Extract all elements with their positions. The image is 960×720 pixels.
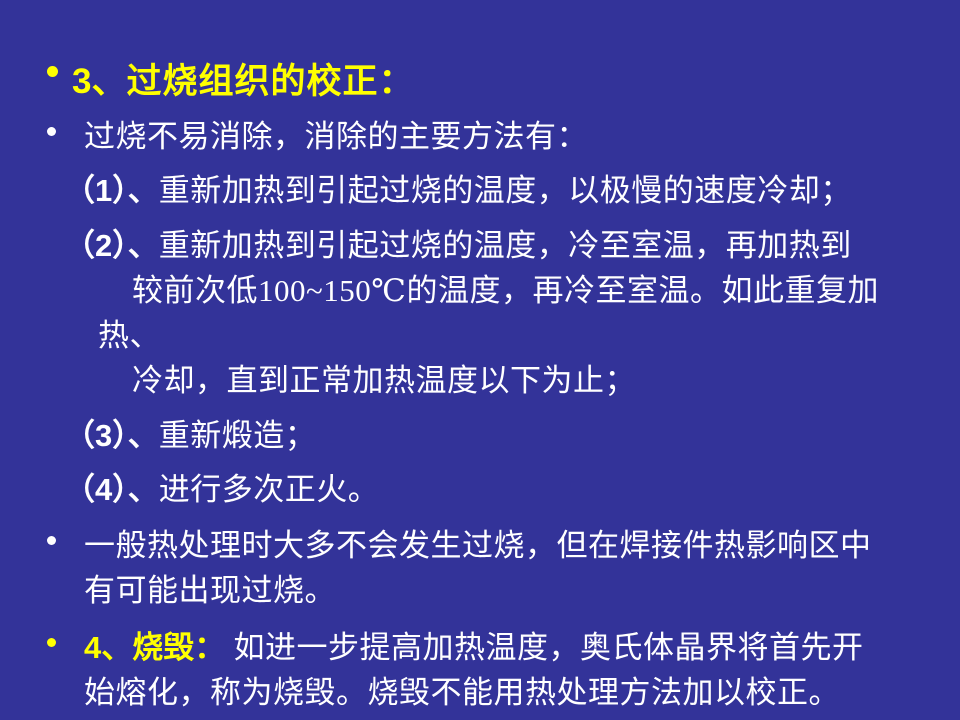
paragraph-line: 如进一步提高加热温度，奥氏体晶界将首先开 [225,630,863,665]
paragraph-text: 一般热处理时大多不会发生过烧，但在焊接件热影响区中有可能出现过烧。 [72,523,926,614]
paragraph-line: 有可能出现过烧。 [84,568,926,613]
item-label: （3）、 [64,418,159,453]
list-item: （4）、进行多次正火。 [34,467,926,512]
paragraph-line: 始熔化，称为烧毁。烧毁不能用热处理方法加以校正。 [84,670,926,715]
intro-text: 过烧不易消除，消除的主要方法有： [72,114,926,159]
intro-bullet-line: 过烧不易消除，消除的主要方法有： [34,114,926,159]
bullet-marker-title [34,56,72,100]
numbered-item-text: （4）、进行多次正火。 [64,467,926,512]
bullet-marker-intro [34,114,72,158]
item-line: 较前次低100~150℃的温度，再冷至室温。如此重复加热、 [98,273,879,353]
numbered-item-text: （2）、重新加热到引起过烧的温度，冷至室温，再加热到较前次低100~150℃的温… [64,223,926,404]
list-item: （2）、重新加热到引起过烧的温度，冷至室温，再加热到较前次低100~150℃的温… [34,223,926,404]
title-label: 过烧组织的校正： [126,62,414,101]
item-label: （4）、 [64,472,159,507]
title-number: 3、 [72,62,126,101]
bullet-marker-paragraph [34,523,72,567]
numbered-item-text: （1）、重新加热到引起过烧的温度，以极慢的速度冷却； [64,168,926,213]
slide-title-line: 3、过烧组织的校正： [34,56,926,107]
list-item: （1）、重新加热到引起过烧的温度，以极慢的速度冷却； [34,168,926,213]
list-item: （3）、重新煅造； [34,413,926,458]
item-label: （2）、 [64,228,159,263]
item-label: （1）、 [64,173,159,208]
paragraph-bullet-line: 一般热处理时大多不会发生过烧，但在焊接件热影响区中有可能出现过烧。 [34,523,926,614]
item-line: 冷却，直到正常加热温度以下为止； [132,363,636,398]
paragraph-bullet-line: 4、烧毁： 如进一步提高加热温度，奥氏体晶界将首先开始熔化，称为烧毁。烧毁不能用… [34,625,926,716]
numbered-item-text: （3）、重新煅造； [64,413,926,458]
paragraph-line: 一般热处理时大多不会发生过烧，但在焊接件热影响区中 [84,523,926,568]
item-line: 重新煅造； [159,418,317,453]
item-line: 重新加热到引起过烧的温度，冷至室温，再加热到 [159,228,852,263]
paragraph-text: 4、烧毁： 如进一步提高加热温度，奥氏体晶界将首先开始熔化，称为烧毁。烧毁不能用… [72,625,926,716]
slide-content-body: 3、过烧组织的校正： 过烧不易消除，消除的主要方法有： （1）、重新加热到引起过… [0,0,960,720]
presentation-slide: 3、过烧组织的校正： 过烧不易消除，消除的主要方法有： （1）、重新加热到引起过… [0,0,960,720]
item-line: 重新加热到引起过烧的温度，以极慢的速度冷却； [159,173,852,208]
slide-title-text: 3、过烧组织的校正： [72,56,926,107]
paragraph-highlight-label: 4、烧毁： [84,630,225,665]
item-line: 进行多次正火。 [159,472,380,507]
bullet-marker-paragraph-highlight [34,625,72,669]
